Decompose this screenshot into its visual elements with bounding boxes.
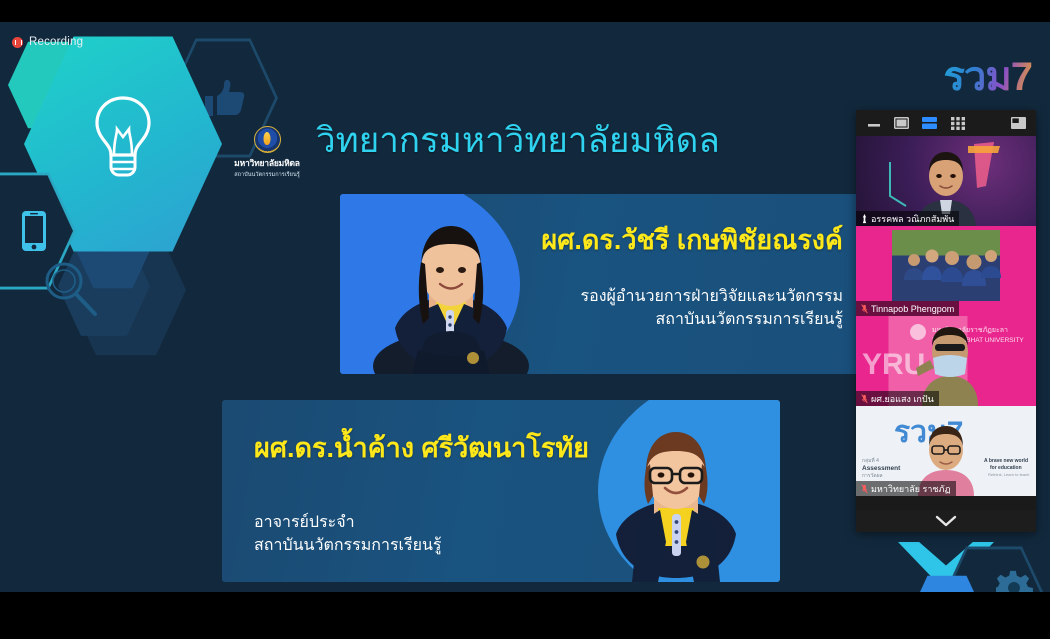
mahidol-seal-icon [254,126,281,153]
participant-tiles-strip[interactable]: อรรคพล วณิภกสัมพัน [856,136,1036,532]
minimize-to-corner-icon[interactable] [1011,117,1026,130]
scroll-down-button[interactable] [856,510,1036,532]
speaker-card-1: ผศ.ดร.วัชรี เกษพิชัยณรงค์ รองผู้อำนวยการ… [340,194,865,374]
speaker-1-role-line-1: รองผู้อำนวยการฝ่ายวิจัยและนวัตกรรม [541,285,843,308]
mahidol-university-logo: มหาวิทยาลัยมหิดล สถาบันนวัตกรรมการเรียนร… [228,126,306,184]
minimize-icon[interactable] [866,117,881,130]
event-brand-logo: รวม7 [943,44,1032,108]
letterbox-bottom [0,592,1050,639]
mic-muted-icon [861,304,868,314]
gallery-view-icon[interactable] [950,117,965,130]
letterbox-top [0,0,1050,22]
svg-text:กลุ่มที่ 4: กลุ่มที่ 4 [862,457,879,464]
participant-name-row: มหาวิทยาลัย ราชภัฏ [856,481,956,496]
participant-tile[interactable]: Tinnapob Phengpom [856,226,1036,316]
participant-tile[interactable]: อรรคพล วณิภกสัมพัน [856,136,1036,226]
organization-name: มหาวิทยาลัยมหิดล [234,156,300,170]
slide-title: วิทยากรมหาวิทยาลัยมหิดล [316,122,720,161]
participant-name-row: อรรคพล วณิภกสัมพัน [856,211,959,226]
speaker-photo-1 [366,218,536,374]
speaker-photo-2 [588,422,764,582]
svg-text:for education: for education [990,465,1022,471]
svg-text:Assessment: Assessment [862,465,901,472]
participant-name: ผศ.ยอแสง เกปัน [871,392,934,406]
recording-icon [12,37,23,48]
recording-label: Recording [29,36,83,48]
speaker-2-role-line-1: อาจารย์ประจำ [254,511,589,534]
mic-muted-icon [861,394,868,404]
video-panel-toolbar [856,110,1036,136]
svg-text:A brave new world: A brave new world [984,458,1028,464]
meeting-screen: มหาวิทยาลัยมหิดล สถาบันนวัตกรรมการเรียนร… [0,0,1050,639]
svg-text:การวัดผล: การวัดผล [862,473,883,479]
chevron-down-icon [935,515,957,527]
speaker-2-text: ผศ.ดร.น้ำค้าง ศรีวัฒนาโรทัย อาจารย์ประจำ… [254,426,589,557]
participant-name: อรรคพล วณิภกสัมพัน [871,212,954,226]
decor-hexagon-solid-br [908,574,986,592]
side-by-side-view-icon[interactable] [922,117,937,130]
participant-name: Tinnapob Phengpom [871,304,954,314]
speaker-2-role-line-2: สถาบันนวัตกรรมการเรียนรู้ [254,534,589,557]
participant-tile[interactable]: YRU มหาวิทยาลัยราชภัฏยะลา YALA RAJABHAT … [856,316,1036,406]
participant-name: มหาวิทยาลัย ราชภัฏ [871,482,951,496]
svg-text:YRU: YRU [862,348,925,381]
participant-name-row: Tinnapob Phengpom [856,301,959,316]
speaker-card-2: ผศ.ดร.น้ำค้าง ศรีวัฒนาโรทัย อาจารย์ประจำ… [222,400,780,582]
organization-subname: สถาบันนวัตกรรมการเรียนรู้ [234,171,300,179]
speaker-1-text: ผศ.ดร.วัชรี เกษพิชัยณรงค์ รองผู้อำนวยการ… [541,218,843,331]
svg-text:Rethink, Learn to teach: Rethink, Learn to teach [988,472,1029,477]
magnifier-icon [38,256,102,320]
speaker-1-name: ผศ.ดร.วัชรี เกษพิชัยณรงค์ [541,218,843,261]
speaker-1-role-line-2: สถาบันนวัตกรรมการเรียนรู้ [541,308,843,331]
participant-tile[interactable]: รวม7 กลุ่มที่ 4 Assessment การวัดผล A br… [856,406,1036,496]
smartphone-icon [21,210,47,252]
mic-muted-icon [861,484,868,494]
recording-indicator[interactable]: Recording [12,36,83,48]
speaker-2-name: ผศ.ดร.น้ำค้าง ศรีวัฒนาโรทัย [254,426,589,469]
participant-name-row: ผศ.ยอแสง เกปัน [856,391,939,406]
speaker-view-icon[interactable] [894,117,909,130]
pin-icon [861,214,868,224]
participants-video-panel: อรรคพล วณิภกสัมพัน [856,110,1036,532]
gear-icon [996,570,1036,592]
